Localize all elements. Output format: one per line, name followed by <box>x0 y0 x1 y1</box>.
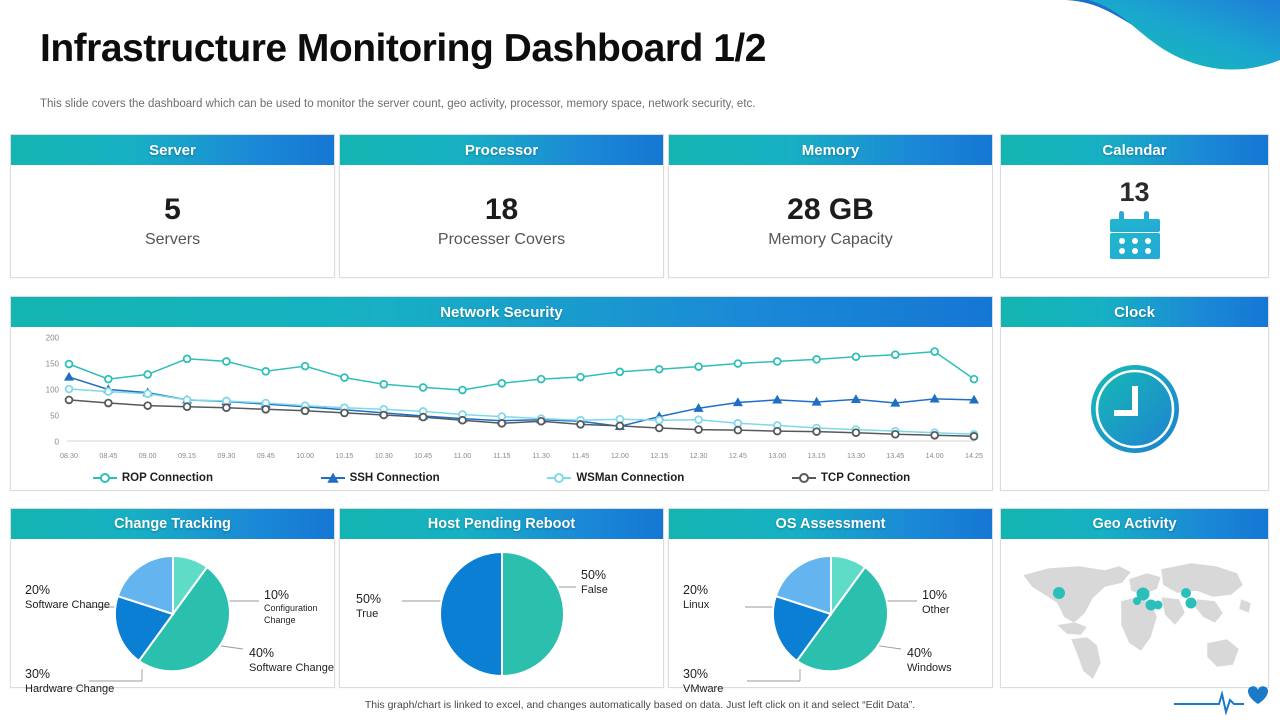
pie-label-configuration-change: 10% Configuration Change <box>264 587 334 626</box>
chart-legend: ROP Connection SSH Connection WSMan Conn… <box>11 472 992 484</box>
network-security-card[interactable]: Network Security 05010015020008.3008.450… <box>10 296 993 491</box>
kpi-card-memory[interactable]: Memory 28 GB Memory Capacity <box>668 134 993 278</box>
page-subtitle: This slide covers the dashboard which ca… <box>40 98 755 110</box>
card-title-os-assessment: OS Assessment <box>669 509 992 539</box>
svg-text:13.00: 13.00 <box>768 451 786 460</box>
legend-item-tcp[interactable]: TCP Connection <box>792 472 910 484</box>
kpi-card-server[interactable]: Server 5 Servers <box>10 134 335 278</box>
pie-label-hardware-change: 30% Hardware Change <box>25 666 114 696</box>
card-title-memory: Memory <box>669 135 992 165</box>
svg-text:14.00: 14.00 <box>926 451 944 460</box>
card-title-server: Server <box>11 135 334 165</box>
pie-label-true: 50% True <box>356 591 381 621</box>
kpi-label-server: Servers <box>145 231 200 249</box>
svg-text:12.15: 12.15 <box>650 451 668 460</box>
card-title-clock: Clock <box>1001 297 1268 327</box>
legend-item-rop[interactable]: ROP Connection <box>93 472 213 484</box>
svg-text:12.00: 12.00 <box>611 451 629 460</box>
kpi-label-memory: Memory Capacity <box>768 231 892 249</box>
svg-text:09.30: 09.30 <box>217 451 235 460</box>
pie-slices <box>440 552 564 676</box>
card-title-geo-activity: Geo Activity <box>1001 509 1268 539</box>
legend-marker-tcp <box>792 472 816 484</box>
svg-text:11.15: 11.15 <box>493 451 510 460</box>
svg-text:13.15: 13.15 <box>808 451 826 460</box>
svg-text:100: 100 <box>46 386 60 395</box>
card-title-network-security: Network Security <box>11 297 992 327</box>
host-pending-reboot-pie-chart <box>340 539 663 689</box>
change-tracking-card[interactable]: Change Tracking 10% Configuration Change… <box>10 508 335 688</box>
svg-text:09.45: 09.45 <box>257 451 275 460</box>
svg-text:12.45: 12.45 <box>729 451 747 460</box>
legend-item-ssh[interactable]: SSH Connection <box>321 472 440 484</box>
svg-text:11.30: 11.30 <box>532 451 549 460</box>
svg-text:09.15: 09.15 <box>178 451 196 460</box>
legend-marker-rop <box>93 472 117 484</box>
pie-label-false: 50% False <box>581 567 608 597</box>
legend-label-rop: ROP Connection <box>122 472 213 484</box>
map-landmasses <box>1023 563 1251 679</box>
calendar-icon <box>1106 209 1164 261</box>
legend-item-wsman[interactable]: WSMan Connection <box>547 472 684 484</box>
kpi-value-memory: 28 GB <box>787 193 874 228</box>
legend-label-tcp: TCP Connection <box>821 472 910 484</box>
svg-text:08.30: 08.30 <box>60 451 78 460</box>
svg-text:10.30: 10.30 <box>375 451 393 460</box>
kpi-value-server: 5 <box>164 193 181 228</box>
card-title-processor: Processor <box>340 135 663 165</box>
pie-slices <box>773 556 888 671</box>
pie-label-other: 10% Other <box>922 587 950 617</box>
svg-text:13.45: 13.45 <box>886 451 904 460</box>
card-title-change-tracking: Change Tracking <box>11 509 334 539</box>
clock-card[interactable]: Clock <box>1000 296 1269 491</box>
card-title-host-pending-reboot: Host Pending Reboot <box>340 509 663 539</box>
card-title-calendar: Calendar <box>1001 135 1268 165</box>
clock-icon <box>1089 363 1181 455</box>
svg-text:0: 0 <box>55 438 60 447</box>
geo-activity-card[interactable]: Geo Activity <box>1000 508 1269 688</box>
pie-label-software-change-40: 40% Software Change <box>249 645 334 675</box>
footer-note: This graph/chart is linked to excel, and… <box>0 699 1280 711</box>
svg-text:200: 200 <box>46 334 60 343</box>
pie-label-vmware: 30% VMware <box>683 666 723 696</box>
svg-text:50: 50 <box>50 412 59 421</box>
svg-text:11.45: 11.45 <box>572 451 589 460</box>
svg-text:13.30: 13.30 <box>847 451 865 460</box>
legend-label-ssh: SSH Connection <box>350 472 440 484</box>
world-map <box>1001 539 1268 687</box>
svg-text:12.30: 12.30 <box>690 451 708 460</box>
svg-text:08.45: 08.45 <box>99 451 117 460</box>
host-pending-reboot-card[interactable]: Host Pending Reboot 50% False 50% True <box>339 508 664 688</box>
os-assessment-card[interactable]: OS Assessment 10% Other 40% Windows <box>668 508 993 688</box>
svg-text:09.00: 09.00 <box>139 451 157 460</box>
svg-text:10.45: 10.45 <box>414 451 432 460</box>
svg-text:10.15: 10.15 <box>335 451 353 460</box>
kpi-card-calendar[interactable]: Calendar 13 <box>1000 134 1269 278</box>
pie-label-windows: 40% Windows <box>907 645 952 675</box>
svg-text:11.00: 11.00 <box>454 451 471 460</box>
page-title: Infrastructure Monitoring Dashboard 1/2 <box>40 27 766 71</box>
legend-label-wsman: WSMan Connection <box>576 472 684 484</box>
legend-marker-wsman <box>547 472 571 484</box>
pie-slices <box>115 556 230 671</box>
calendar-day-value: 13 <box>1119 179 1149 206</box>
svg-text:150: 150 <box>46 360 60 369</box>
pie-label-linux: 20% Linux <box>683 582 709 612</box>
kpi-label-processor: Processer Covers <box>438 231 565 249</box>
svg-text:14.25: 14.25 <box>965 451 983 460</box>
network-security-line-chart: 05010015020008.3008.4509.0009.1509.3009.… <box>11 327 992 467</box>
pie-label-software-change-20: 20% Software Change <box>25 582 110 612</box>
legend-marker-ssh <box>321 472 345 484</box>
brand-logo <box>1174 682 1270 716</box>
corner-wave-decoration <box>1048 0 1280 92</box>
kpi-value-processor: 18 <box>485 193 518 228</box>
svg-text:10.00: 10.00 <box>296 451 314 460</box>
kpi-card-processor[interactable]: Processor 18 Processer Covers <box>339 134 664 278</box>
